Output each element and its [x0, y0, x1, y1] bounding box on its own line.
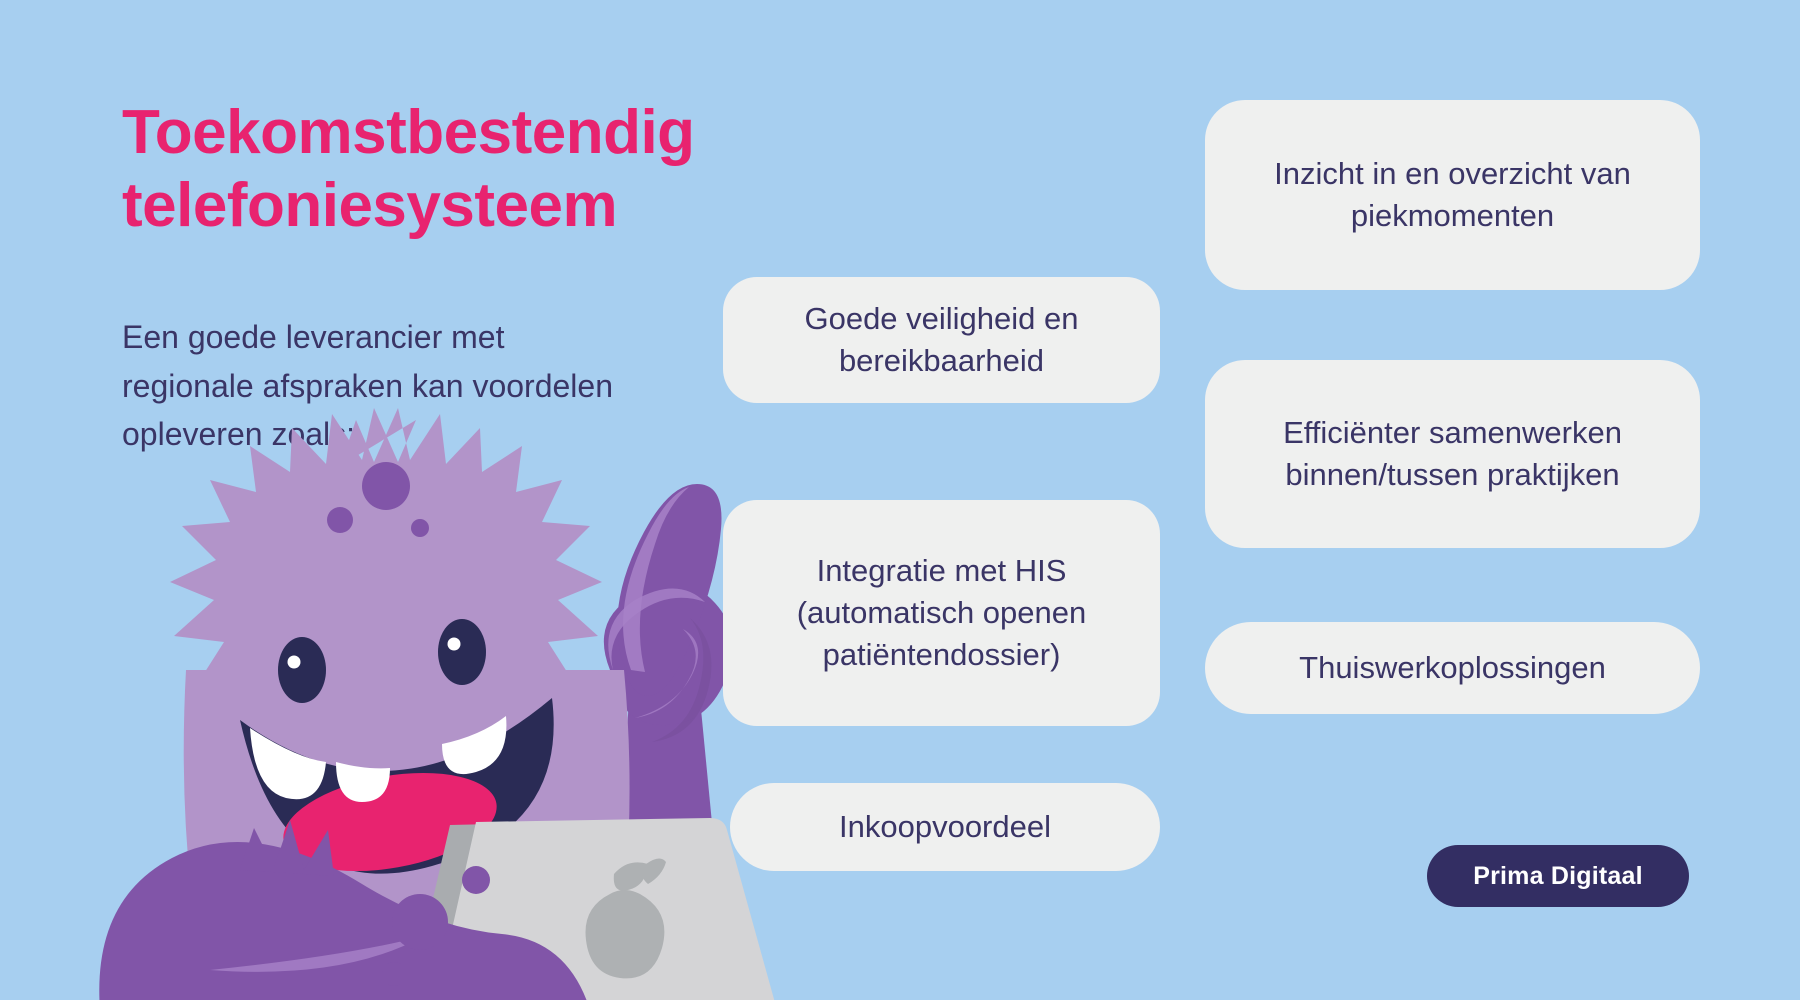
monster-left-eye [278, 637, 326, 703]
benefit-card-line: Inzicht in en overzicht van [1274, 153, 1631, 195]
benefit-card-his[interactable]: Integratie met HIS (automatisch openen p… [723, 500, 1160, 726]
benefit-card-line: Thuiswerkoplossingen [1299, 647, 1606, 689]
brand-badge[interactable]: Prima Digitaal [1427, 845, 1689, 907]
benefit-card-line: Inkoopvoordeel [839, 806, 1051, 848]
benefit-card-line: patiëntendossier) [797, 634, 1087, 676]
page-title: Toekomstbestendig telefoniesysteem [122, 96, 782, 242]
benefit-card-inkoopvoordeel[interactable]: Inkoopvoordeel [730, 783, 1160, 871]
benefit-card-efficienter[interactable]: Efficiënter samenwerken binnen/tussen pr… [1205, 360, 1700, 548]
benefit-card-thuiswerk[interactable]: Thuiswerkoplossingen [1205, 622, 1700, 714]
benefit-card-veiligheid[interactable]: Goede veiligheid en bereikbaarheid [723, 277, 1160, 403]
benefit-card-line: Goede veiligheid en [804, 298, 1078, 340]
slide-canvas: Toekomstbestendig telefoniesysteem Een g… [0, 0, 1800, 1000]
benefit-card-line: Efficiënter samenwerken [1283, 412, 1622, 454]
benefit-card-line: piekmomenten [1274, 195, 1631, 237]
benefit-card-line: (automatisch openen [797, 592, 1087, 634]
benefit-card-line: bereikbaarheid [804, 340, 1078, 382]
brand-badge-label: Prima Digitaal [1473, 862, 1643, 891]
monster-right-eye [438, 619, 486, 685]
benefit-card-line: binnen/tussen praktijken [1283, 454, 1622, 496]
benefit-card-line: Integratie met HIS [797, 550, 1087, 592]
benefit-card-inzicht[interactable]: Inzicht in en overzicht van piekmomenten [1205, 100, 1700, 290]
